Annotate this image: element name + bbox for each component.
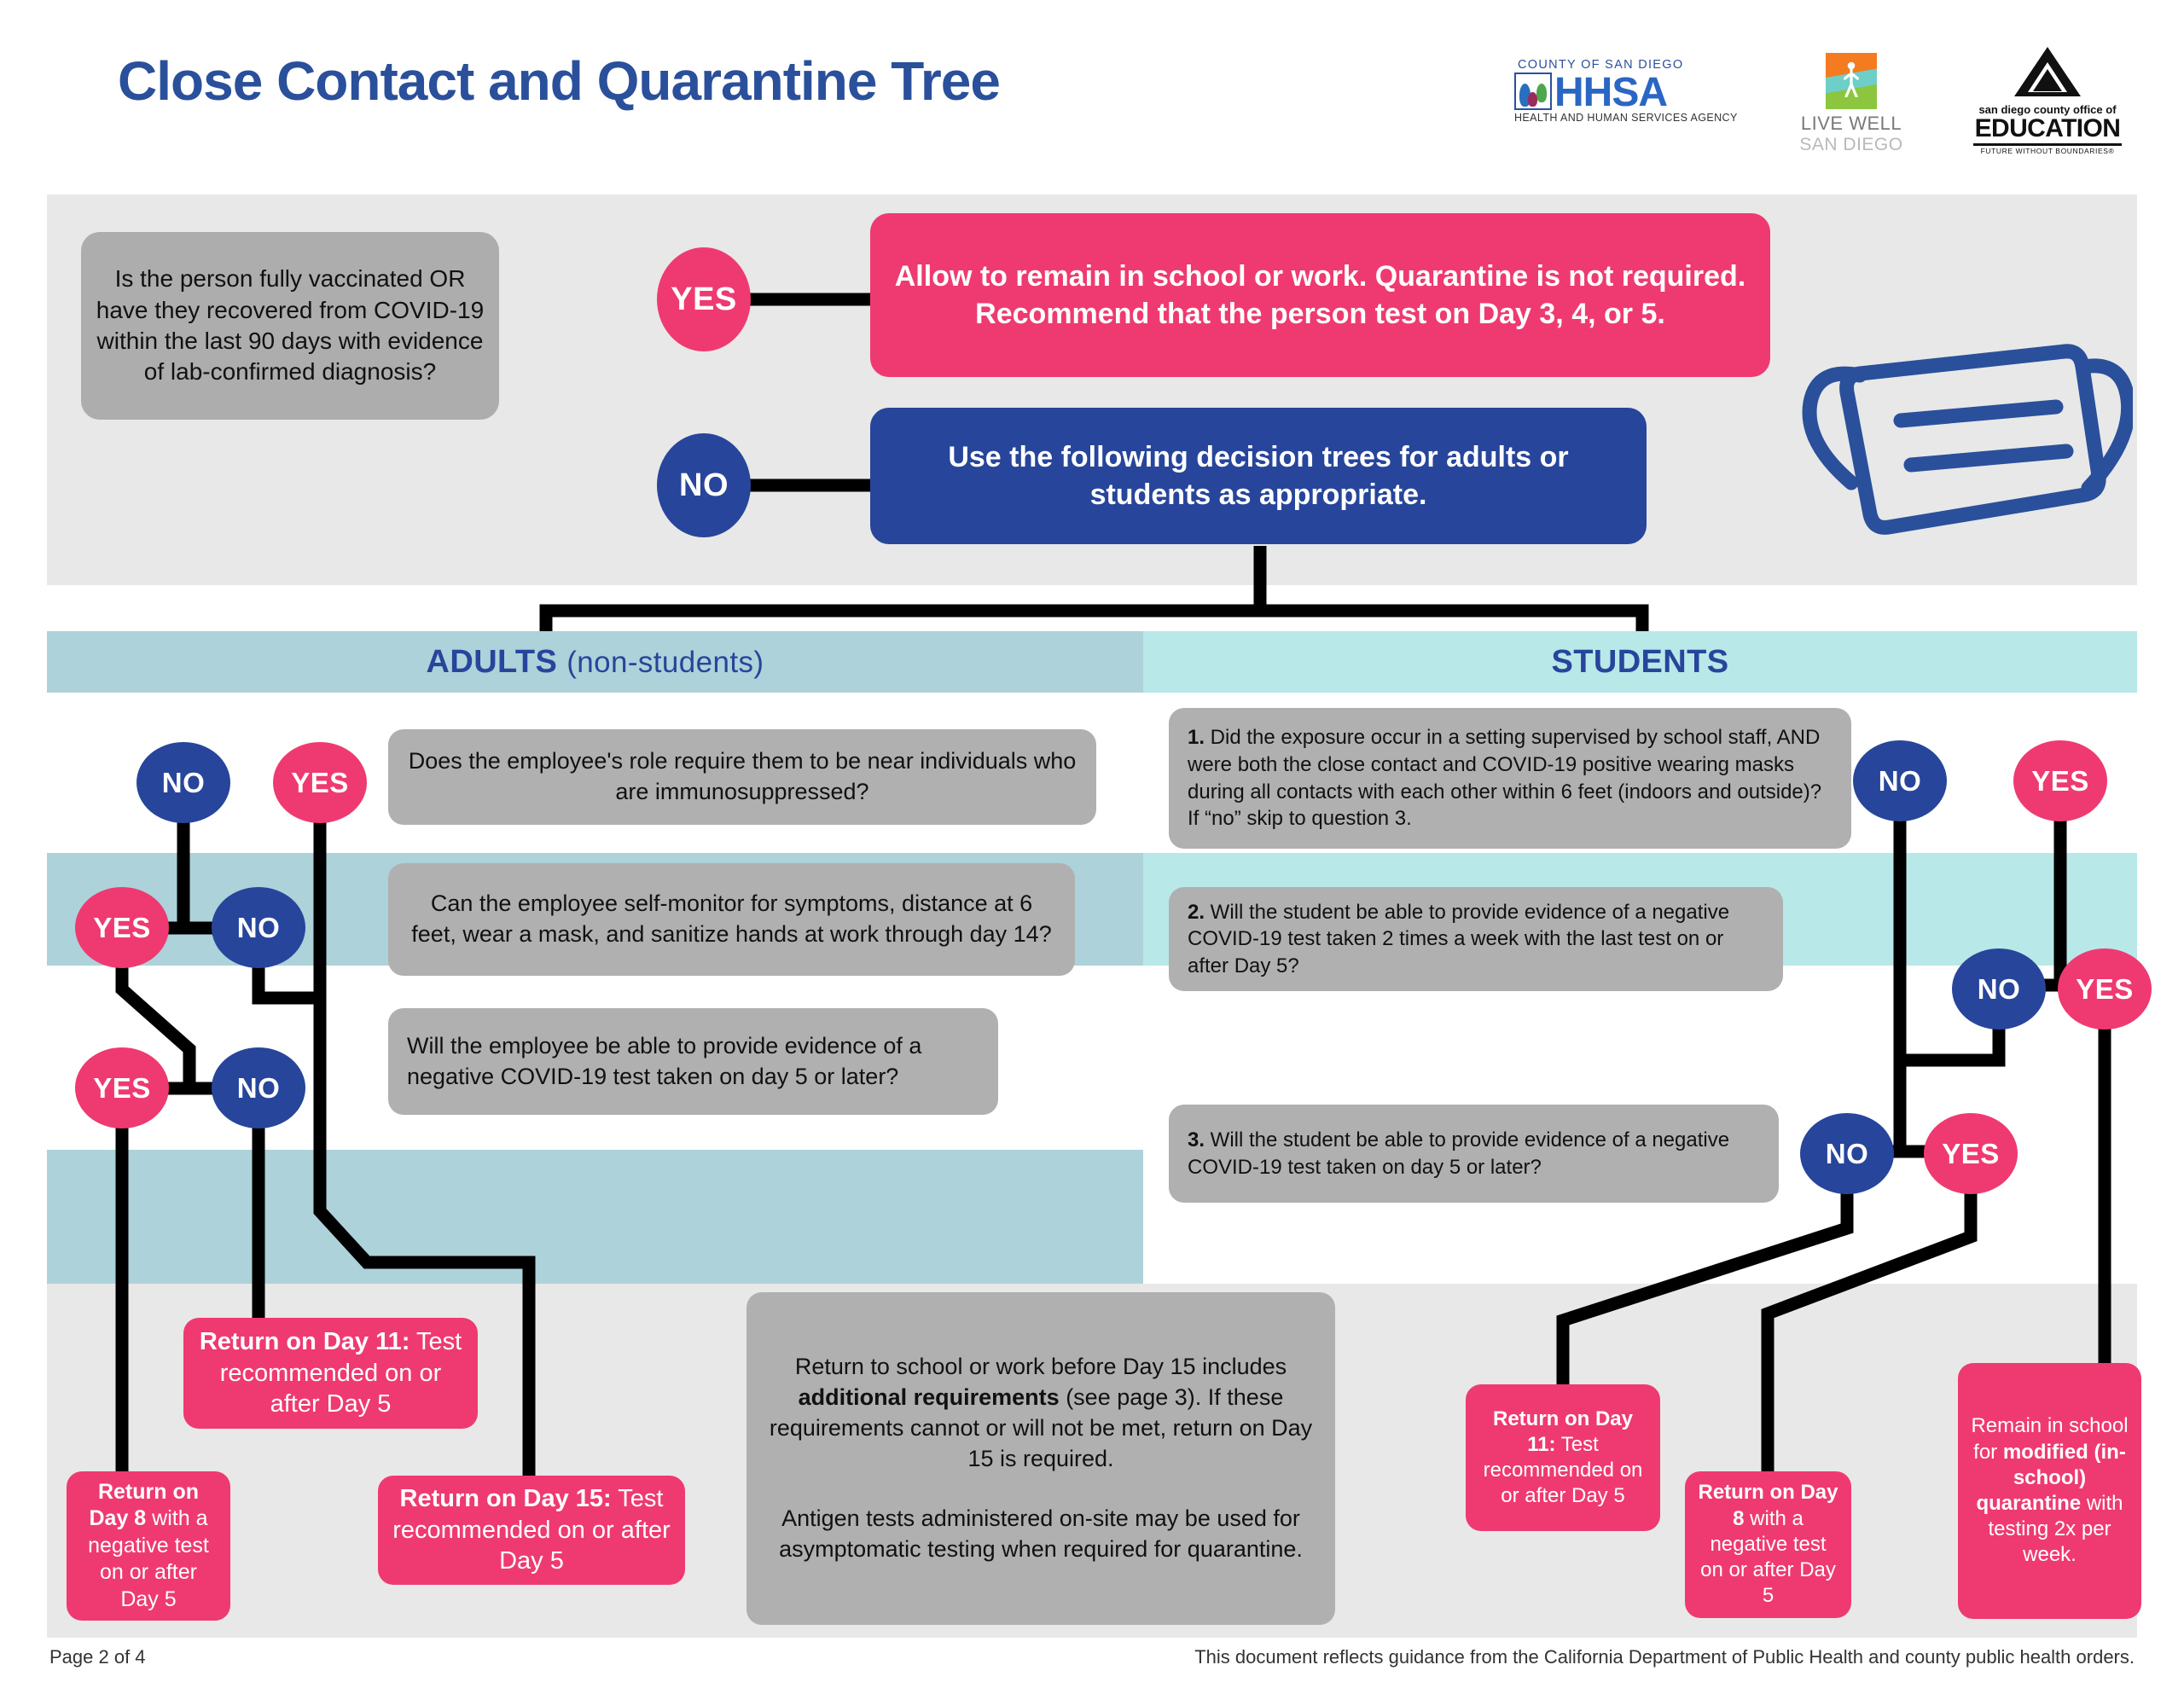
face-mask-icon xyxy=(1800,333,2133,546)
root-no-oval[interactable]: NO xyxy=(657,433,751,537)
note-p1-bold: additional requirements xyxy=(799,1384,1060,1410)
students-outcome-modified-quarantine: Remain in school for modified (in-school… xyxy=(1958,1363,2141,1619)
root-yes-oval[interactable]: YES xyxy=(657,247,751,351)
root-question-box: Is the person fully vaccinated OR have t… xyxy=(81,232,499,420)
students-outcome-day8: Return on Day 8 with a negative test on … xyxy=(1685,1471,1851,1618)
footer-disclaimer: This document reflects guidance from the… xyxy=(1194,1646,2135,1668)
students-question-2: 2. Will the student be able to provide e… xyxy=(1169,887,1783,991)
students-q2-number: 2. xyxy=(1188,901,1205,924)
adults-day15-bold: Return on Day 15: xyxy=(400,1485,612,1512)
adults-question-2: Can the employee self-monitor for sympto… xyxy=(388,863,1075,976)
adults-q3-no-oval[interactable]: NO xyxy=(212,1047,305,1128)
adults-q2-no-oval[interactable]: NO xyxy=(212,887,305,968)
students-q3-yes-oval[interactable]: YES xyxy=(1924,1113,2018,1194)
adults-outcome-day8: Return on Day 8 with a negative test on … xyxy=(67,1471,230,1621)
students-question-1: 1. Did the exposure occur in a setting s… xyxy=(1169,708,1851,849)
students-outcome-day11: Return on Day 11: Test recommended on or… xyxy=(1466,1384,1660,1531)
adults-outcome-day15: Return on Day 15: Test recommended on or… xyxy=(378,1476,685,1585)
students-q3-text: Will the student be able to provide evid… xyxy=(1188,1128,1729,1179)
adults-day11-bold: Return on Day 11: xyxy=(200,1328,410,1355)
footer-page-number: Page 2 of 4 xyxy=(49,1646,146,1668)
students-q2-yes-oval[interactable]: YES xyxy=(2058,948,2152,1030)
additional-requirements-note-box: Return to school or work before Day 15 i… xyxy=(746,1292,1335,1625)
note-p1-pre: Return to school or work before Day 15 i… xyxy=(795,1354,1287,1379)
note-paragraph-2: Antigen tests administered on-site may b… xyxy=(769,1504,1313,1565)
adults-q2-yes-oval[interactable]: YES xyxy=(75,887,169,968)
students-q1-no-oval[interactable]: NO xyxy=(1853,740,1947,821)
students-q1-number: 1. xyxy=(1188,726,1205,749)
students-q3-number: 3. xyxy=(1188,1128,1205,1151)
adults-q3-yes-oval[interactable]: YES xyxy=(75,1047,169,1128)
students-q2-text: Will the student be able to provide evid… xyxy=(1188,901,1729,977)
root-no-outcome-box: Use the following decision trees for adu… xyxy=(870,408,1647,544)
root-yes-outcome-box: Allow to remain in school or work. Quara… xyxy=(870,213,1770,377)
students-q1-yes-oval[interactable]: YES xyxy=(2013,740,2107,821)
students-q3-no-oval[interactable]: NO xyxy=(1800,1113,1894,1194)
adults-outcome-day11: Return on Day 11: Test recommended on or… xyxy=(183,1318,478,1429)
adults-q1-no-oval[interactable]: NO xyxy=(136,742,230,823)
students-day8-rest: with a negative test on or after Day 5 xyxy=(1700,1507,1836,1608)
adults-question-1: Does the employee's role require them to… xyxy=(388,729,1096,825)
adults-question-3: Will the employee be able to provide evi… xyxy=(388,1008,998,1115)
students-q2-no-oval[interactable]: NO xyxy=(1952,948,2046,1030)
students-q1-text: Did the exposure occur in a setting supe… xyxy=(1188,726,1821,830)
infographic-page: Close Contact and Quarantine Tree COUNTY… xyxy=(0,0,2184,1688)
note-paragraph-1: Return to school or work before Day 15 i… xyxy=(769,1352,1313,1475)
adults-q1-yes-oval[interactable]: YES xyxy=(273,742,367,823)
students-question-3: 3. Will the student be able to provide e… xyxy=(1169,1105,1779,1203)
students-day11-rest: Test recommended on or after Day 5 xyxy=(1484,1433,1643,1507)
